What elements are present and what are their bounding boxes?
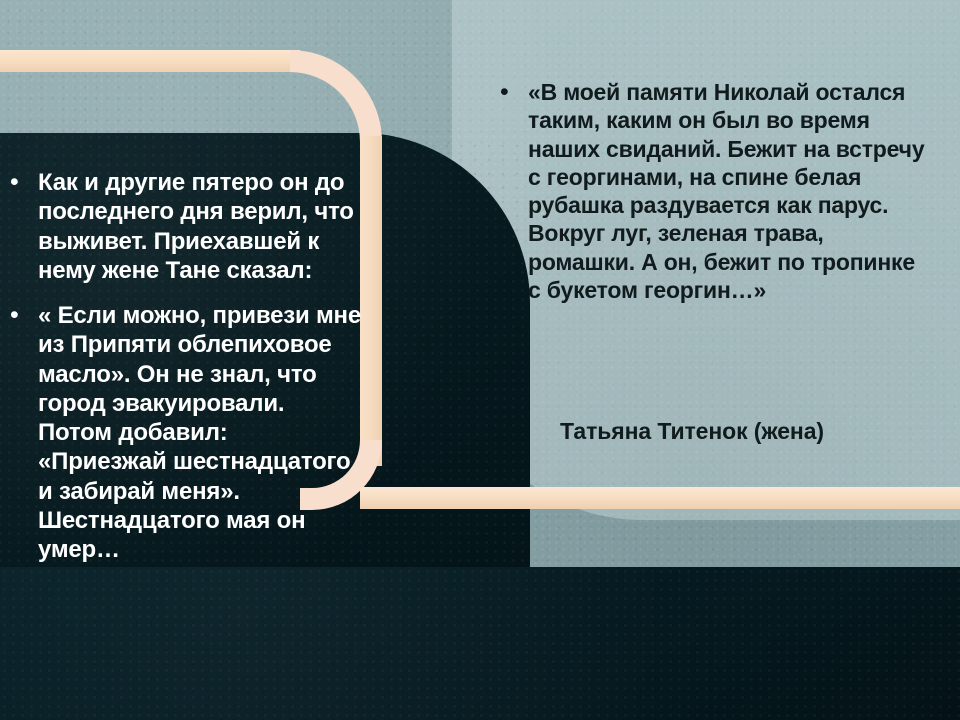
left-text-block: • Как и другие пятеро он до последнего д…: [10, 168, 362, 580]
cream-ribbon-vertical-segment: [360, 136, 382, 466]
bullet-paragraph: «В моей памяти Николай остался таким, ка…: [528, 78, 930, 304]
bullet-paragraph: « Если можно, привези мне из Припяти обл…: [38, 301, 362, 564]
bullet-marker-icon: •: [500, 78, 528, 105]
list-item: • « Если можно, привези мне из Припяти о…: [10, 301, 362, 564]
right-text-block: • «В моей памяти Николай остался таким, …: [500, 78, 930, 320]
bullet-marker-icon: •: [10, 168, 38, 195]
list-item: • «В моей памяти Николай остался таким, …: [500, 78, 930, 304]
bullet-marker-icon: •: [10, 301, 38, 328]
presentation-slide: • Как и другие пятеро он до последнего д…: [0, 0, 960, 720]
dark-band-texture: [0, 567, 960, 720]
cream-ribbon-bottom-segment: [360, 487, 960, 509]
cream-ribbon-top-segment: [0, 50, 300, 72]
list-item: • Как и другие пятеро он до последнего д…: [10, 168, 362, 285]
dark-bottom-band: [0, 567, 960, 720]
attribution-label: Татьяна Титенок (жена): [560, 418, 960, 445]
bullet-paragraph: Как и другие пятеро он до последнего дня…: [38, 168, 362, 285]
